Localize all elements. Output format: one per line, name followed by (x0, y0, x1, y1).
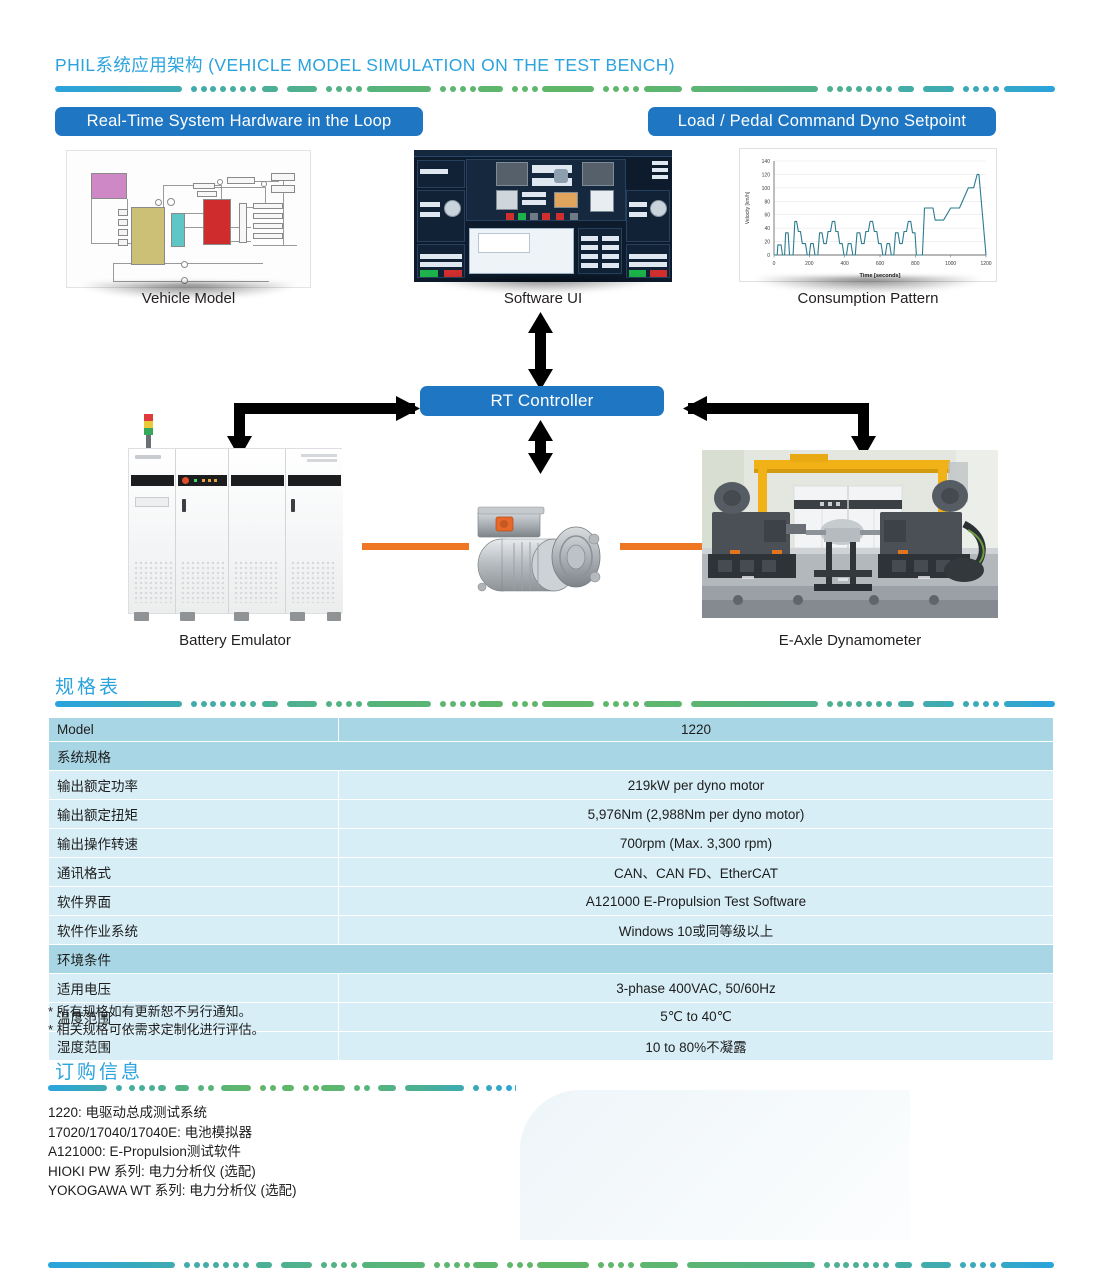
svg-text:80: 80 (764, 199, 770, 205)
simulink-block-yellow (131, 207, 165, 265)
drive-cycle-svg: 020406080100120140020040060080010001200T… (740, 149, 997, 281)
spec-section-title: 规格表 (55, 672, 121, 699)
table-cell-value: 219kW per dyno motor (339, 771, 1054, 800)
table-group-row: 系统规格 (49, 742, 1054, 771)
table-cell-label: 软件作业系统 (49, 916, 339, 945)
table-group-row: 环境条件 (49, 945, 1054, 974)
architecture-section-title: PHIL系统应用架构 (VEHICLE MODEL SIMULATION ON … (55, 52, 675, 77)
simulink-diagram (66, 150, 311, 288)
decorative-rule-top (55, 86, 1055, 92)
order-section-title: 订购信息 (55, 1057, 143, 1084)
table-group-label: 系统规格 (49, 742, 1054, 771)
table-cell-label: 输出操作转速 (49, 829, 339, 858)
svg-text:20: 20 (764, 240, 770, 246)
software-ui-dashboard (414, 150, 672, 282)
decorative-rule-order (48, 1085, 516, 1091)
simulink-block-magenta (91, 173, 127, 199)
velocity-drive-cycle-chart: 020406080100120140020040060080010001200T… (739, 148, 997, 282)
table-row: 输出操作转速700rpm (Max. 3,300 rpm) (49, 829, 1054, 858)
spec-notes: * 所有规格如有更新恕不另行通知。 * 相关规格可依需求定制化进行评估。 (48, 1003, 748, 1039)
table-header-row: Model1220 (49, 718, 1054, 742)
caption-e-axle-dynamometer: E-Axle Dynamometer (702, 632, 998, 649)
svg-text:0: 0 (767, 253, 770, 259)
svg-text:400: 400 (840, 261, 849, 267)
svg-text:Velocity [km/h]: Velocity [km/h] (745, 191, 751, 224)
table-cell-label: 软件界面 (49, 887, 339, 916)
svg-text:140: 140 (762, 159, 771, 165)
svg-text:0: 0 (773, 261, 776, 267)
table-row: 输出额定功率219kW per dyno motor (49, 771, 1054, 800)
table-cell-value: A121000 E-Propulsion Test Software (339, 887, 1054, 916)
svg-text:1200: 1200 (980, 261, 991, 267)
caption-battery-emulator: Battery Emulator (110, 632, 360, 649)
svg-text:100: 100 (762, 186, 771, 192)
svg-text:600: 600 (876, 261, 885, 267)
ordering-information-list: 1220: 电驱动总成测试系统 17020/17040/17040E: 电池模拟… (48, 1103, 568, 1201)
decorative-rule-spec (55, 701, 1055, 707)
table-cell-label: 通讯格式 (49, 858, 339, 887)
table-row: 通讯格式CAN、CAN FD、EtherCAT (49, 858, 1054, 887)
emergency-stop-icon (182, 477, 189, 484)
svg-text:1000: 1000 (945, 261, 956, 267)
table-cell-label: 适用电压 (49, 974, 339, 1003)
table-cell-value: Windows 10或同等级以上 (339, 916, 1054, 945)
pill-realtime-hil: Real-Time System Hardware in the Loop (55, 107, 423, 136)
simulink-block-cyan (171, 213, 185, 247)
table-header-label: Model (49, 718, 339, 742)
vehicle-model-screenshot (66, 150, 311, 288)
table-row: 输出额定扭矩5,976Nm (2,988Nm per dyno motor) (49, 800, 1054, 829)
table-cell-value: 5,976Nm (2,988Nm per dyno motor) (339, 800, 1054, 829)
consumption-pattern-screenshot: 020406080100120140020040060080010001200T… (739, 148, 997, 282)
svg-text:120: 120 (762, 172, 771, 178)
rt-controller-node: RT Controller (420, 386, 664, 416)
svg-text:60: 60 (764, 213, 770, 219)
decorative-rule-footer (48, 1262, 1054, 1268)
simulink-block-red (203, 199, 231, 245)
table-row: 适用电压3-phase 400VAC, 50/60Hz (49, 974, 1054, 1003)
e-axle-dynamometer-photo (702, 450, 998, 618)
svg-text:40: 40 (764, 226, 770, 232)
table-cell-label: 输出额定扭矩 (49, 800, 339, 829)
connector-right (620, 543, 702, 550)
table-cell-value: CAN、CAN FD、EtherCAT (339, 858, 1054, 887)
battery-emulator-photo (128, 440, 342, 620)
svg-text:800: 800 (911, 261, 920, 267)
trend-plot (469, 228, 574, 274)
table-cell-value: 700rpm (Max. 3,300 rpm) (339, 829, 1054, 858)
software-ui-screenshot (414, 150, 672, 282)
battery-emulator-cabinet (128, 448, 342, 614)
table-header-value: 1220 (339, 718, 1054, 742)
table-cell-label: 输出额定功率 (49, 771, 339, 800)
table-row: 软件作业系统Windows 10或同等级以上 (49, 916, 1054, 945)
svg-text:200: 200 (805, 261, 814, 267)
background-watermark (520, 1090, 910, 1240)
connector-left (362, 543, 469, 550)
table-cell-value: 3-phase 400VAC, 50/60Hz (339, 974, 1054, 1003)
e-axle-motor-image (462, 495, 622, 605)
tower-light-icon (144, 414, 153, 448)
brochure-page: PHIL系统应用架构 (VEHICLE MODEL SIMULATION ON … (0, 0, 1102, 1285)
table-group-label: 环境条件 (49, 945, 1054, 974)
pill-load-pedal-dyno: Load / Pedal Command Dyno Setpoint (648, 107, 996, 136)
table-row: 软件界面A121000 E-Propulsion Test Software (49, 887, 1054, 916)
